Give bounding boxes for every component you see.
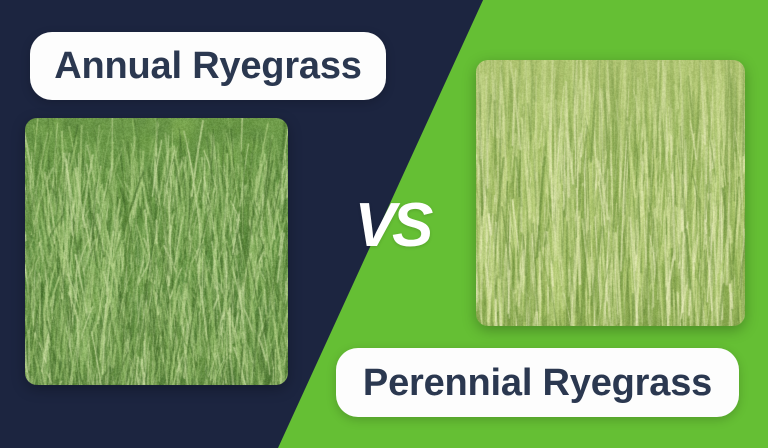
comparison-infographic: Annual Ryegrass Perennial Ryegrass VS [0, 0, 768, 448]
vs-label: VS [355, 195, 430, 257]
perennial-ryegrass-label-card: Perennial Ryegrass [336, 348, 739, 417]
perennial-ryegrass-image [476, 60, 745, 326]
annual-ryegrass-image [25, 118, 288, 385]
annual-ryegrass-photo [25, 118, 288, 385]
perennial-ryegrass-photo [476, 60, 745, 326]
vs-badge: VS [352, 186, 432, 266]
perennial-ryegrass-title: Perennial Ryegrass [363, 364, 712, 402]
annual-ryegrass-title: Annual Ryegrass [54, 47, 361, 85]
annual-ryegrass-label-card: Annual Ryegrass [30, 32, 386, 100]
